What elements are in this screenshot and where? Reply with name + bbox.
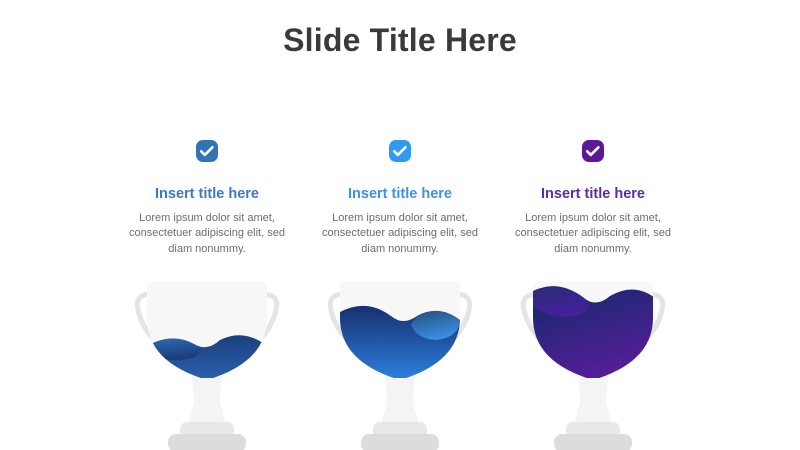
column-body-text: Lorem ipsum dolor sit amet, consectetuer… xyxy=(127,211,287,258)
columns-container: Insert title here Lorem ipsum dolor sit … xyxy=(0,140,800,257)
check-circle-icon[interactable] xyxy=(196,140,218,162)
trophy-icon-3 xyxy=(518,276,668,450)
column-3[interactable]: Insert title here Lorem ipsum dolor sit … xyxy=(497,140,690,257)
column-title: Insert title here xyxy=(348,187,452,202)
trophy-slot-2 xyxy=(304,276,497,450)
trophies-container xyxy=(0,276,800,450)
column-1[interactable]: Insert title here Lorem ipsum dolor sit … xyxy=(111,140,304,257)
trophy-slot-1 xyxy=(111,276,304,450)
check-circle-icon[interactable] xyxy=(582,140,604,162)
column-body-text: Lorem ipsum dolor sit amet, consectetuer… xyxy=(513,211,673,258)
trophy-slot-3 xyxy=(497,276,690,450)
column-title: Insert title here xyxy=(541,187,645,202)
page-title: Slide Title Here xyxy=(0,22,800,59)
column-body-text: Lorem ipsum dolor sit amet, consectetuer… xyxy=(320,211,480,258)
slide-canvas: Slide Title Here Insert title here Lorem… xyxy=(0,0,800,450)
trophy-icon-1 xyxy=(132,276,282,450)
column-2[interactable]: Insert title here Lorem ipsum dolor sit … xyxy=(304,140,497,257)
column-title: Insert title here xyxy=(155,187,259,202)
check-circle-icon[interactable] xyxy=(389,140,411,162)
trophy-icon-2 xyxy=(325,276,475,450)
